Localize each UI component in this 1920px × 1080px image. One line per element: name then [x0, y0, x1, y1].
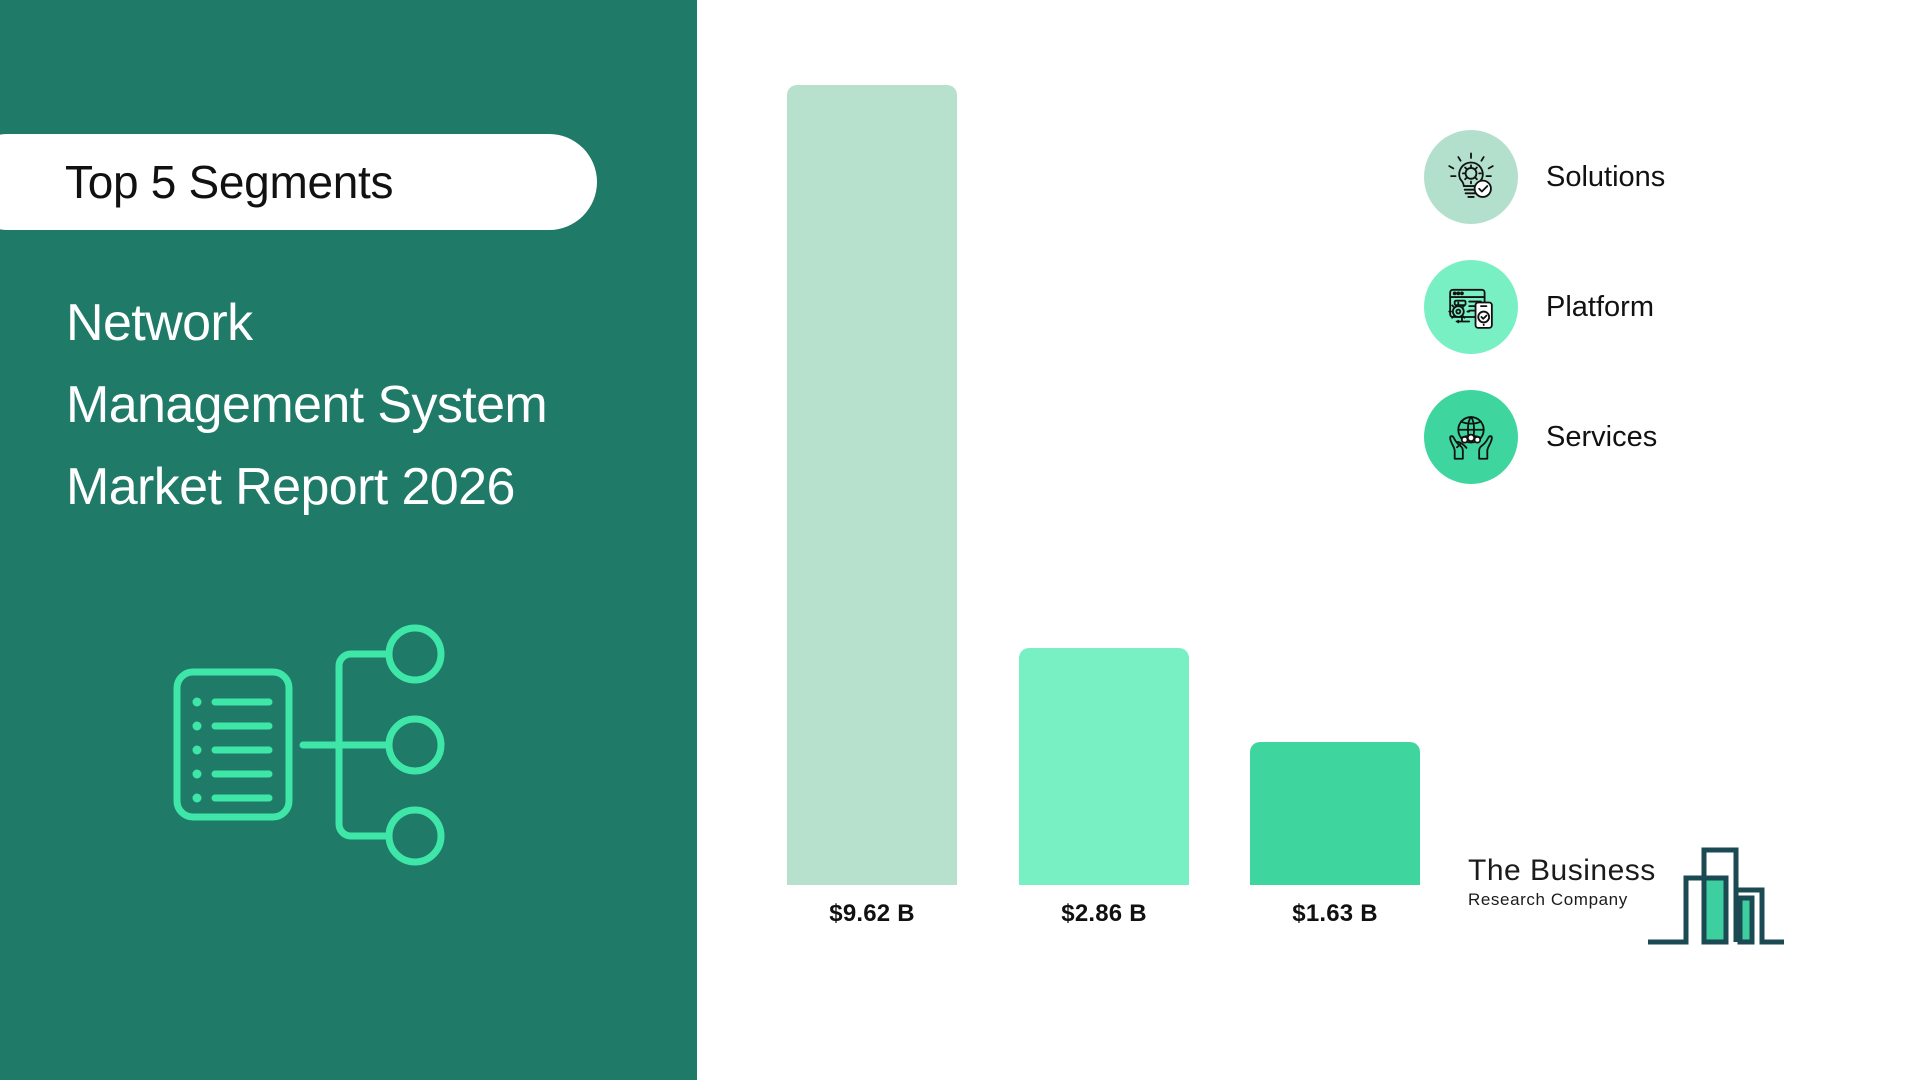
slide-canvas: Top 5 Segments Network Management System…	[0, 0, 1920, 1080]
legend-item-label: Services	[1546, 421, 1657, 454]
page-title-line-3: Market Report 2026	[66, 446, 666, 528]
lightbulb-gear-check-icon	[1424, 130, 1518, 224]
page-title-line-2: Management System	[66, 364, 666, 446]
bar-services	[1250, 742, 1420, 885]
legend-item-platform: Platform	[1424, 260, 1665, 354]
chart-legend: SolutionsPlatformServices	[1424, 130, 1665, 484]
legend-item-label: Platform	[1546, 291, 1654, 324]
legend-item-solutions: Solutions	[1424, 130, 1665, 224]
bar-platform	[1019, 648, 1189, 885]
globe-in-hands-icon	[1424, 390, 1518, 484]
left-panel: Top 5 Segments Network Management System…	[0, 0, 697, 1080]
segments-badge: Top 5 Segments	[0, 134, 597, 230]
company-logo: The Business Research Company	[1468, 838, 1788, 953]
company-logo-text: The Business Research Company	[1468, 854, 1673, 910]
company-logo-line-2: Research Company	[1468, 890, 1673, 910]
legend-item-label: Solutions	[1546, 161, 1665, 194]
company-logo-line-1: The Business	[1468, 854, 1673, 888]
document-hierarchy-icon	[165, 610, 495, 930]
bar-solutions	[787, 85, 957, 885]
page-title: Network Management System Market Report …	[66, 282, 666, 528]
bar-chart-logo-mark	[1644, 838, 1788, 955]
monitor-phone-gear-icon	[1424, 260, 1518, 354]
page-title-line-1: Network	[66, 282, 666, 364]
legend-item-services: Services	[1424, 390, 1665, 484]
bar-value-label: $1.63 B	[1190, 900, 1480, 928]
segments-badge-label: Top 5 Segments	[65, 155, 393, 209]
